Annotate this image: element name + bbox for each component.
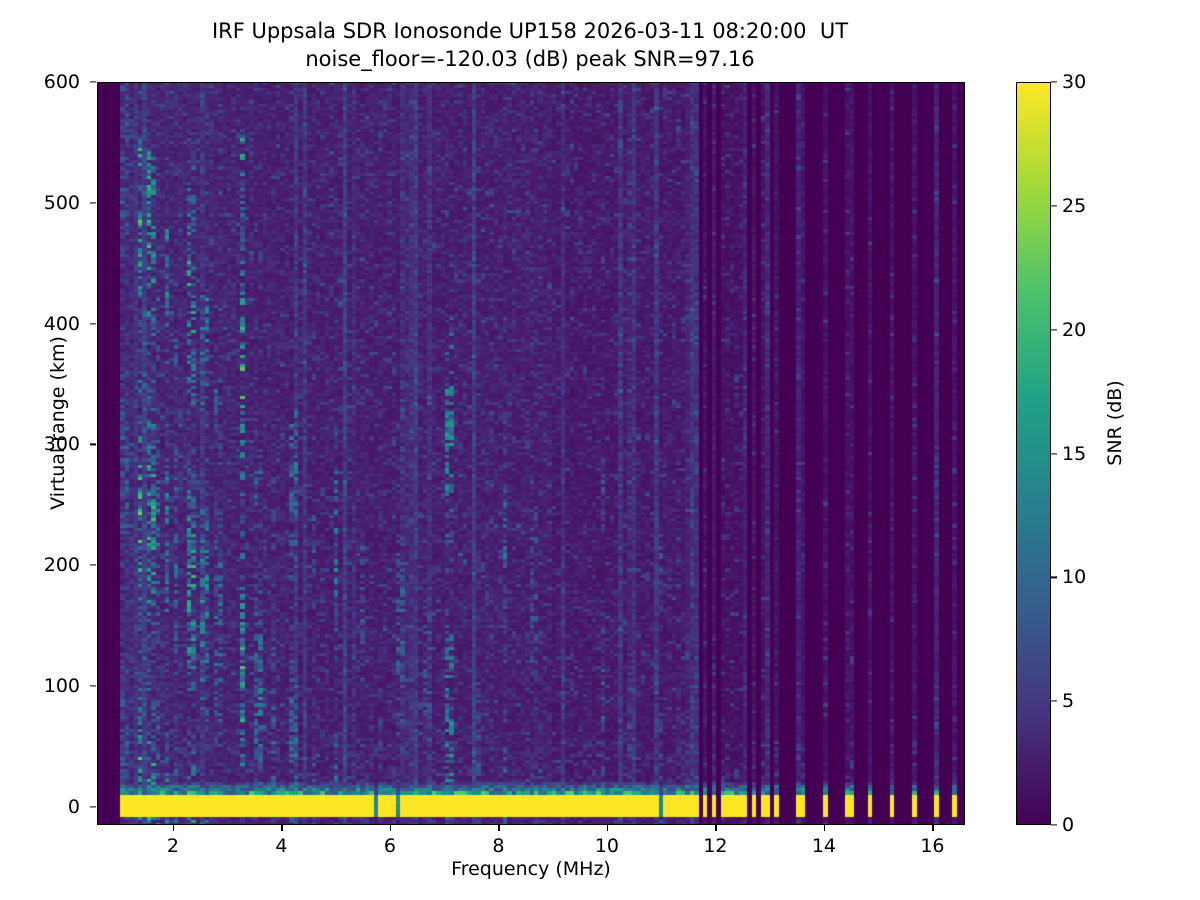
x-tick-label: 2 [167,835,179,857]
y-tick-400: 400 [0,310,90,338]
x-tick-mark [607,825,608,831]
colorbar-label: SNR (dB) [1104,213,1126,633]
colorbar-tick-label: 20 [1062,319,1086,341]
colorbar-tick-mark [1051,701,1057,702]
colorbar-gradient [1017,83,1050,824]
y-tick-mark [90,81,96,82]
colorbar-tick-label: 10 [1062,566,1086,588]
x-tick-mark [281,825,282,831]
title-line-secondary: noise_floor=-120.03 (dB) peak SNR=97.16 [0,46,1060,74]
colorbar-tick-30: 30 [1051,68,1111,96]
colorbar-tick-label: 15 [1062,443,1086,465]
colorbar-tick-mark [1051,824,1057,825]
y-tick-200: 200 [0,551,90,579]
y-tick-mark [90,323,96,324]
y-tick-mark [90,806,96,807]
x-tick-mark [390,825,391,831]
colorbar-tick-mark [1051,577,1057,578]
y-tick-mark [90,444,96,445]
colorbar-tick-0: 0 [1051,811,1111,839]
colorbar-tick-mark [1051,329,1057,330]
y-tick-label: 500 [44,192,80,214]
y-tick-label: 600 [44,71,80,93]
colorbar-tick-label: 5 [1062,690,1074,712]
x-tick-mark [932,825,933,831]
y-axis-label: Virtual range (km) [47,213,69,633]
colorbar-tick-label: 25 [1062,195,1086,217]
colorbar-tick-25: 25 [1051,192,1111,220]
ionogram-heatmap-canvas[interactable] [98,83,965,825]
ionogram-plot-area[interactable] [97,82,965,825]
colorbar-tick-10: 10 [1051,563,1111,591]
y-tick-label: 0 [68,796,80,818]
colorbar-tick-mark [1051,205,1057,206]
x-tick-mark [715,825,716,831]
y-tick-500: 500 [0,189,90,217]
y-tick-0: 0 [0,793,90,821]
y-tick-mark [90,202,96,203]
x-tick-label: 6 [384,835,396,857]
x-tick-label: 16 [920,835,944,857]
colorbar[interactable] [1016,82,1051,825]
y-tick-100: 100 [0,672,90,700]
colorbar-tick-label: 30 [1062,71,1086,93]
y-tick-300: 300 [0,430,90,458]
colorbar-tick-label: 0 [1062,814,1074,836]
x-axis-label: Frequency (MHz) [97,858,965,880]
x-tick-label: 10 [595,835,619,857]
ionogram-figure: IRF Uppsala SDR Ionosonde UP158 2026-03-… [0,0,1200,900]
x-tick-label: 14 [812,835,836,857]
title-line-primary: IRF Uppsala SDR Ionosonde UP158 2026-03-… [0,18,1060,46]
colorbar-tick-5: 5 [1051,687,1111,715]
y-tick-600: 600 [0,68,90,96]
x-tick-mark [173,825,174,831]
x-tick-label: 12 [703,835,727,857]
colorbar-tick-20: 20 [1051,316,1111,344]
x-tick-label: 4 [275,835,287,857]
y-tick-mark [90,685,96,686]
colorbar-tick-mark [1051,81,1057,82]
x-tick-mark [498,825,499,831]
x-tick-label: 8 [492,835,504,857]
colorbar-tick-15: 15 [1051,440,1111,468]
y-tick-label: 100 [44,675,80,697]
figure-title: IRF Uppsala SDR Ionosonde UP158 2026-03-… [0,18,1060,73]
x-tick-mark [824,825,825,831]
y-tick-mark [90,565,96,566]
colorbar-tick-mark [1051,453,1057,454]
